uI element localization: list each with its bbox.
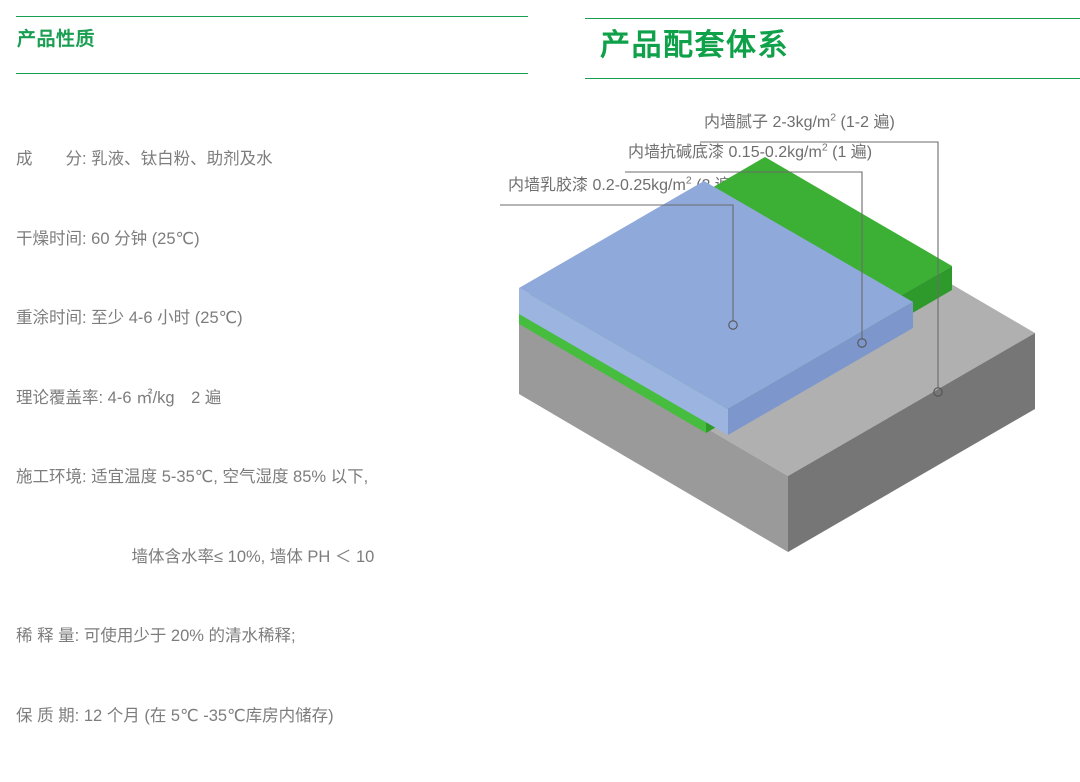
spec-text-5: 墙体含水率≤ 10%, 墙体 PH ＜ 10 [16, 548, 374, 566]
callout-label-putty-suffix: (1-2 遍) [836, 114, 895, 131]
spec-row: 保 质 期: 12 个月 (在 5℃ -35℃库房内储存) [16, 703, 526, 730]
spec-list: 成 分: 乳液、钛白粉、助剂及水 干燥时间: 60 分钟 (25℃) 重涂时间:… [16, 93, 526, 782]
spec-text-2: 重涂时间: 至少 4-6 小时 (25℃) [16, 309, 243, 327]
spec-text-7: 保 质 期: 12 个月 (在 5℃ -35℃库房内储存) [16, 707, 334, 725]
left-panel-title: 产品性质 [17, 30, 95, 49]
spec-text-0: 成 分: 乳液、钛白粉、助剂及水 [16, 150, 273, 168]
left-panel-bottom-rule [16, 73, 528, 74]
page-root: 产品性质 成 分: 乳液、钛白粉、助剂及水 干燥时间: 60 分钟 (25℃) … [0, 0, 1080, 575]
spec-row: 墙体含水率≤ 10%, 墙体 PH ＜ 10 [16, 544, 526, 571]
spec-row: 成 分: 乳液、钛白粉、助剂及水 [16, 146, 526, 173]
spec-row: 稀 释 量: 可使用少于 20% 的清水稀释; [16, 623, 526, 650]
product-properties-panel: 产品性质 成 分: 乳液、钛白粉、助剂及水 干燥时间: 60 分钟 (25℃) … [0, 0, 540, 575]
spec-text-4: 施工环境: 适宜温度 5-35℃, 空气湿度 85% 以下, [16, 468, 368, 486]
callout-label-primer-suffix: (1 遍) [828, 144, 872, 161]
left-panel-top-rule [16, 16, 528, 17]
right-panel-top-rule [585, 18, 1080, 19]
spec-row: 干燥时间: 60 分钟 (25℃) [16, 226, 526, 253]
right-panel-title: 产品配套体系 [600, 29, 789, 64]
spec-text-6: 稀 释 量: 可使用少于 20% 的清水稀释; [16, 627, 296, 645]
callout-label-putty-prefix: 内墙腻子 2-3kg/m [704, 114, 830, 131]
product-system-panel: 产品配套体系 [540, 0, 1080, 575]
callout-label-topcoat-prefix: 内墙乳胶漆 0.2-0.25kg/m [508, 177, 686, 194]
spec-text-3: 理论覆盖率: 4-6 ㎡/kg 2 遍 [16, 389, 221, 407]
spec-text-1: 干燥时间: 60 分钟 (25℃) [16, 230, 200, 248]
callout-label-putty: 内墙腻子 2-3kg/m2 (1-2 遍) [704, 113, 895, 133]
callout-label-topcoat: 内墙乳胶漆 0.2-0.25kg/m2 (2 遍) [508, 176, 736, 196]
callout-label-primer-prefix: 内墙抗碱底漆 0.15-0.2kg/m [628, 144, 822, 161]
spec-row: 施工环境: 适宜温度 5-35℃, 空气湿度 85% 以下, [16, 464, 526, 491]
right-panel-bottom-rule [585, 78, 1080, 79]
callout-label-topcoat-suffix: (2 遍) [692, 177, 736, 194]
spec-row: 重涂时间: 至少 4-6 小时 (25℃) [16, 305, 526, 332]
spec-row: 理论覆盖率: 4-6 ㎡/kg 2 遍 [16, 385, 526, 412]
callout-label-primer: 内墙抗碱底漆 0.15-0.2kg/m2 (1 遍) [628, 143, 872, 163]
